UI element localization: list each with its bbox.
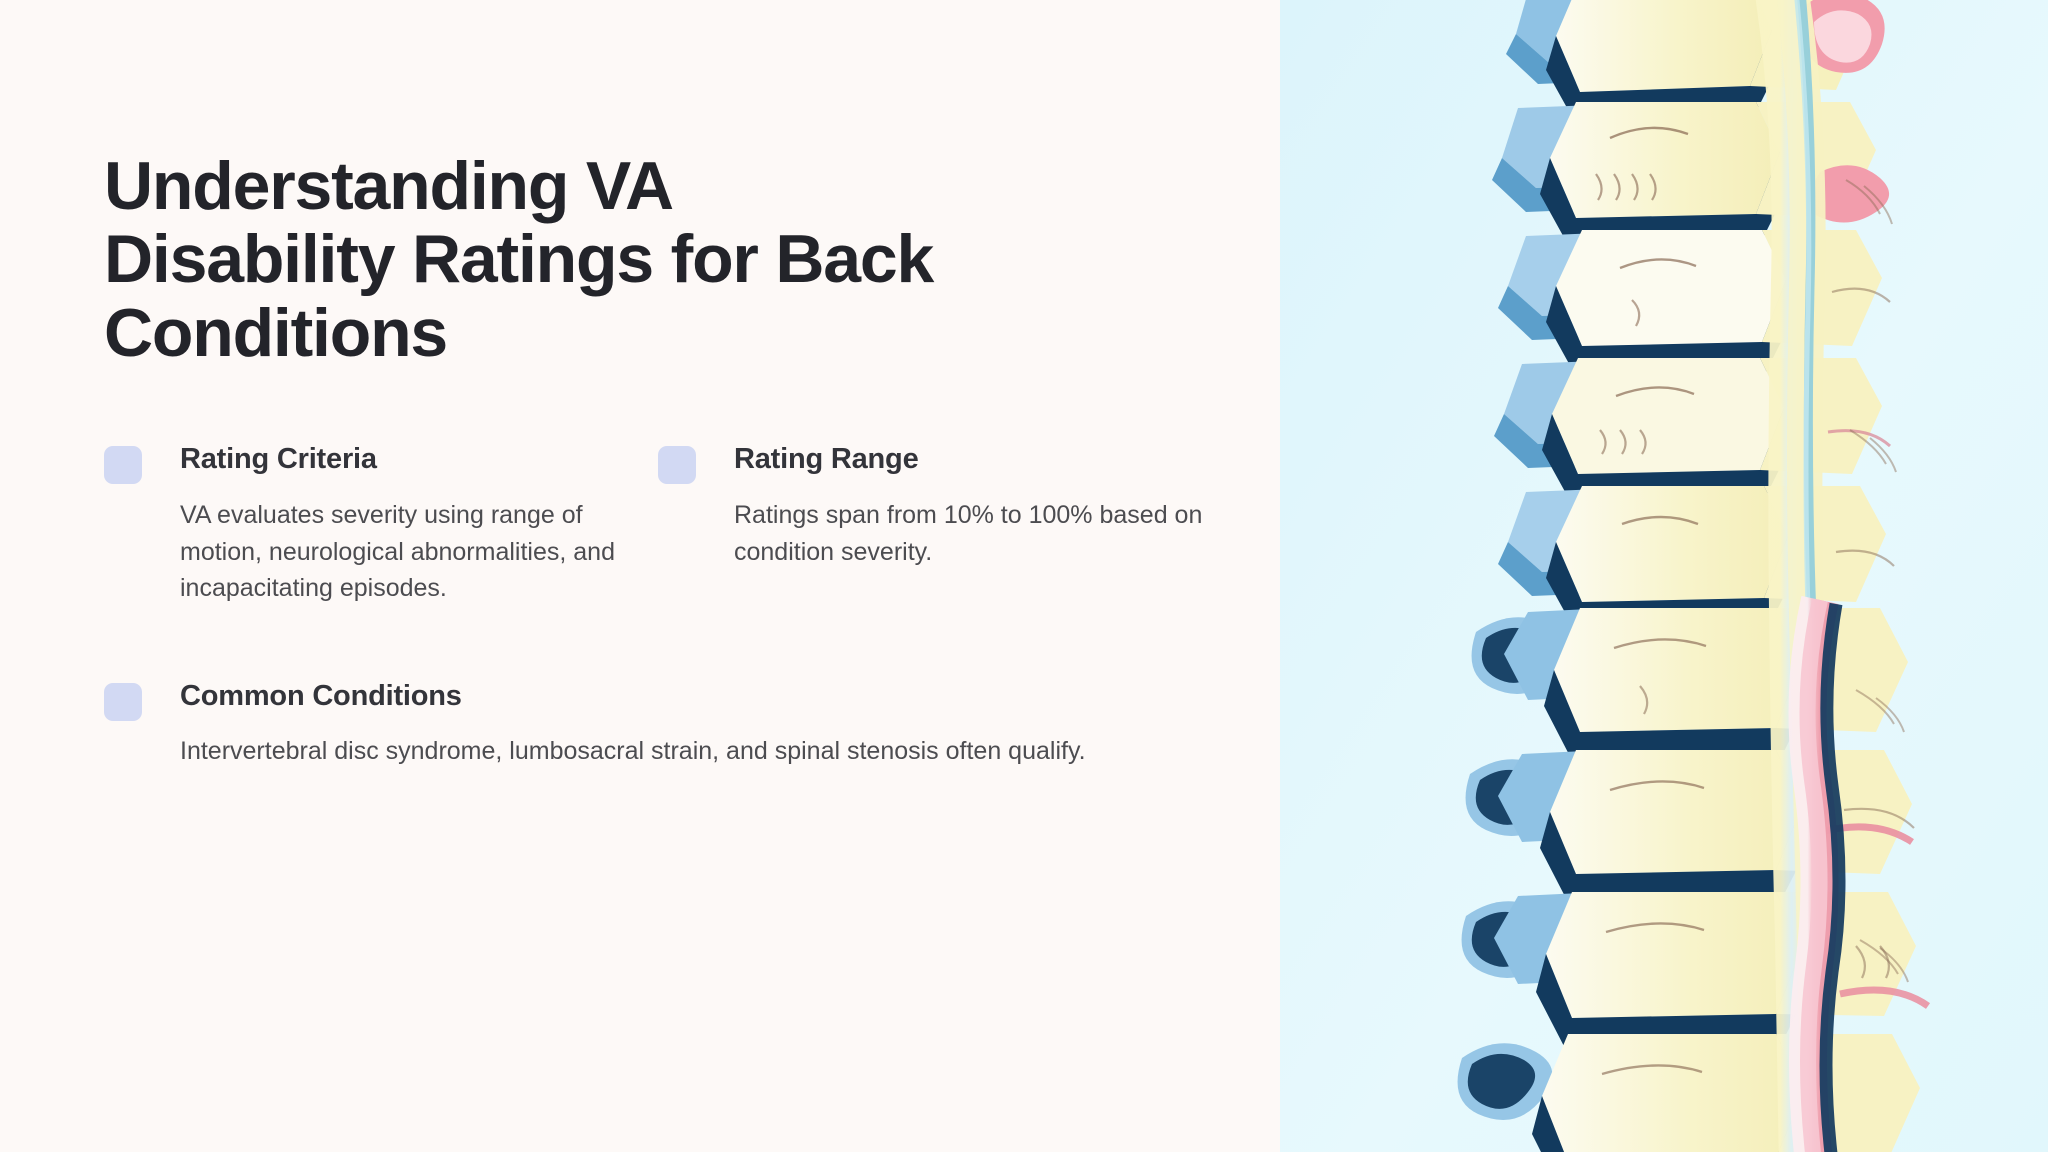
feature-card-rating-criteria: Rating Criteria VA evaluates severity us… — [104, 442, 658, 606]
feature-cards-grid: Rating Criteria VA evaluates severity us… — [104, 442, 1170, 770]
rounded-square-bullet-icon — [104, 683, 142, 721]
feature-card-common-conditions: Common Conditions Intervertebral disc sy… — [104, 679, 1212, 770]
feature-card-title: Rating Range — [734, 442, 1212, 477]
feature-card-body: Intervertebral disc syndrome, lumbosacra… — [180, 733, 1180, 770]
feature-card-title: Rating Criteria — [180, 442, 658, 477]
feature-card-rating-range: Rating Range Ratings span from 10% to 10… — [658, 442, 1212, 606]
content-panel: Understanding VA Disability Ratings for … — [0, 0, 1280, 1152]
feature-card-body: VA evaluates severity using range of mot… — [180, 497, 650, 607]
illustration-panel — [1280, 0, 2048, 1152]
feature-card-title: Common Conditions — [180, 679, 1212, 714]
page-title: Understanding VA Disability Ratings for … — [104, 150, 1164, 370]
rounded-square-bullet-icon — [104, 446, 142, 484]
rounded-square-bullet-icon — [658, 446, 696, 484]
spine-anatomy-illustration — [1280, 0, 2048, 1152]
slide-root: Understanding VA Disability Ratings for … — [0, 0, 2048, 1152]
feature-card-body: Ratings span from 10% to 100% based on c… — [734, 497, 1204, 570]
